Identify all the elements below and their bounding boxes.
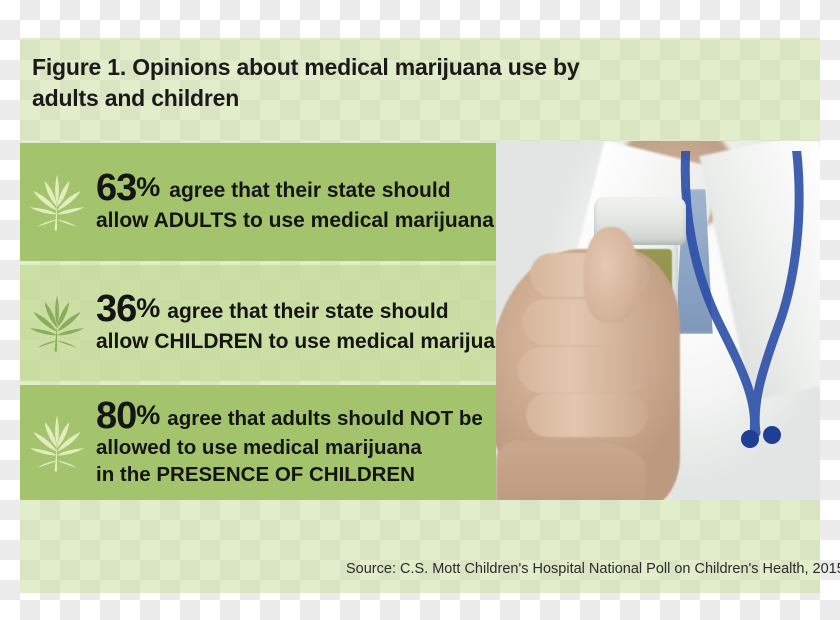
stat-line-2: allowed to use medical marijuana (96, 435, 504, 462)
doctor-holding-marijuana-jar-photo (496, 141, 820, 500)
stat-bar-presence-of-children: 80%agree that adults should NOT be allow… (20, 385, 510, 500)
stat-percent: 80 (96, 395, 136, 437)
source-citation: Source: C.S. Mott Children's Hospital Na… (346, 561, 840, 577)
stat-percent-sign: % (136, 400, 160, 430)
cannabis-leaf-icon (26, 171, 88, 233)
stat-percent-sign: % (136, 172, 160, 202)
thumb (584, 227, 638, 323)
stat-text-presence: 80%agree that adults should NOT be allow… (88, 397, 510, 488)
cannabis-leaf-icon (26, 292, 88, 354)
stat-percent: 63 (96, 167, 136, 209)
stat-text-children: 36%agree that their state should allow C… (88, 290, 526, 355)
wrist (496, 441, 646, 500)
stat-line-1: 63%agree that their state should (96, 169, 504, 207)
stat-percent: 36 (96, 288, 136, 330)
stat-line-2: allow ADULTS to use medical marijuana (96, 207, 504, 234)
stat-bar-children: 36%agree that their state should allow C… (20, 265, 510, 381)
infographic-canvas: Figure 1. Opinions about medical marijua… (0, 0, 840, 620)
finger (518, 347, 648, 393)
stat-line-3: in the PRESENCE OF CHILDREN (96, 462, 504, 489)
stat-line-1-text: agree that their state should (169, 179, 450, 202)
stat-line-2: allow CHILDREN to use medical marijuana (96, 328, 520, 355)
cannabis-leaf-icon (26, 412, 88, 474)
stat-bar-adults: 63%agree that their state should allow A… (20, 143, 510, 261)
stat-line-1: 36%agree that their state should (96, 290, 520, 328)
page-title: Figure 1. Opinions about medical marijua… (32, 52, 632, 113)
stat-line-1-text: agree that their state should (167, 300, 448, 323)
stat-line-1-text: agree that adults should NOT be (167, 407, 483, 430)
finger (526, 393, 648, 437)
stat-percent-sign: % (136, 293, 160, 323)
stat-line-1: 80%agree that adults should NOT be (96, 397, 504, 435)
stat-text-adults: 63%agree that their state should allow A… (88, 169, 510, 234)
